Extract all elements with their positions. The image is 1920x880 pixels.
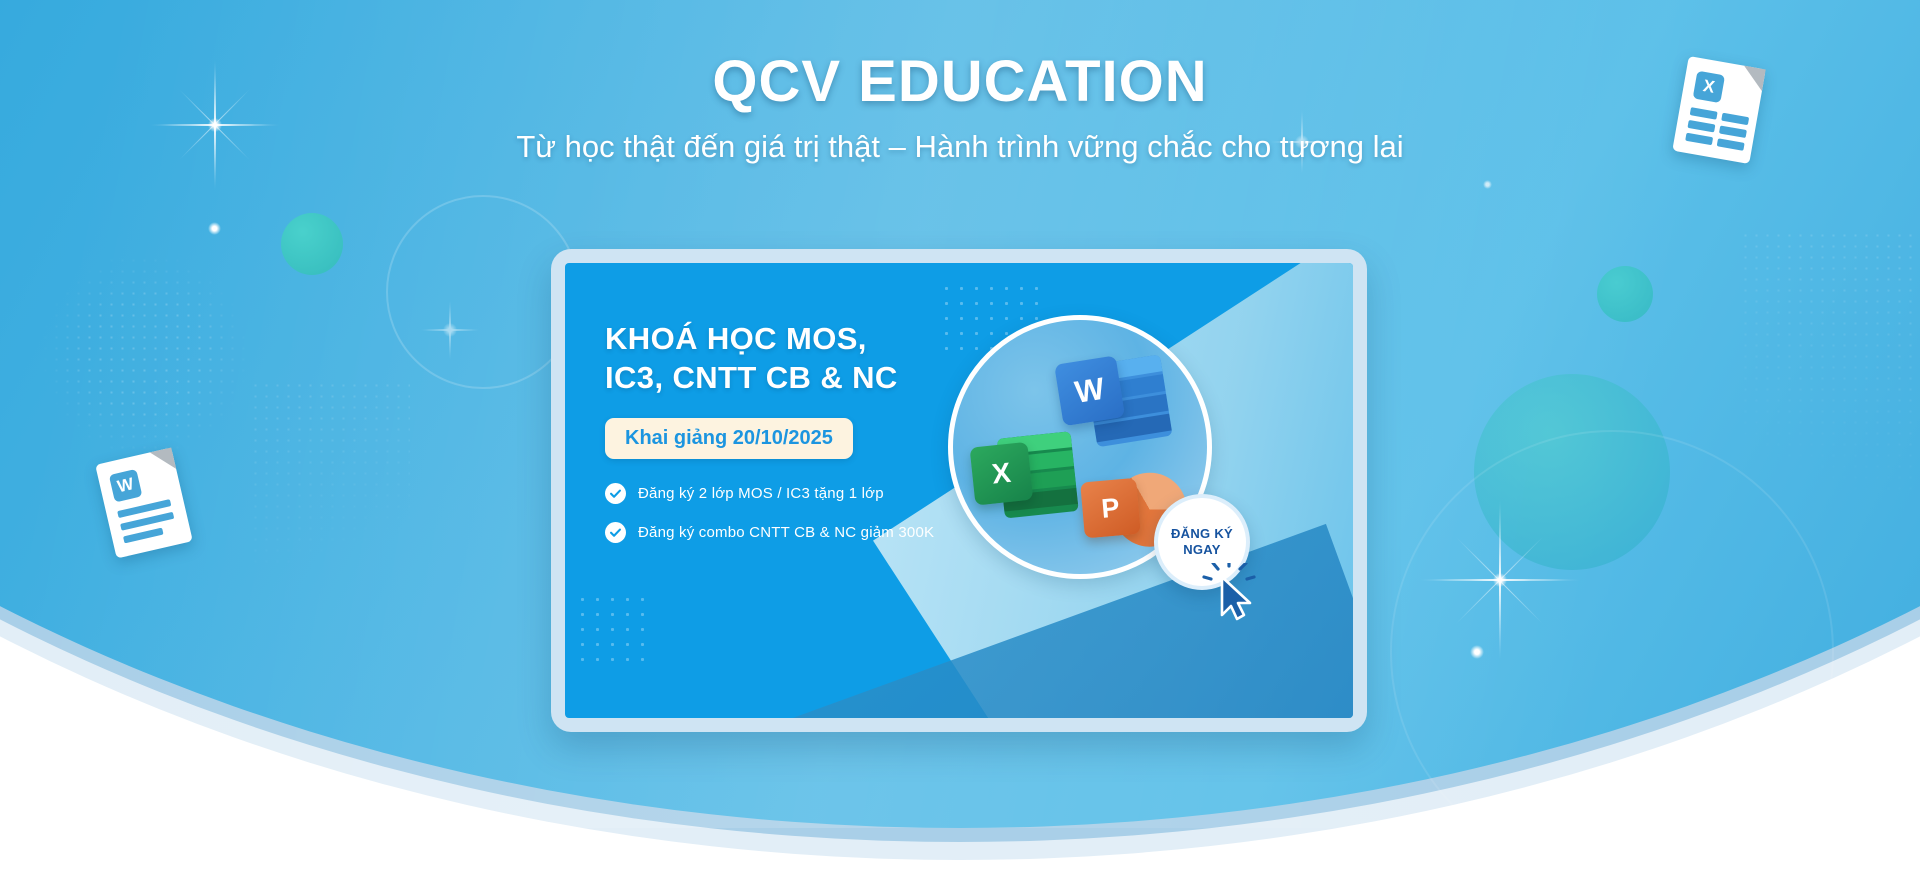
banner-stage: QCV EDUCATION Từ học thật đến giá trị th…: [0, 0, 1920, 880]
doc-cell: [1690, 107, 1718, 120]
promo-feature-list: Đăng ký 2 lớp MOS / IC3 tặng 1 lớp Đăng …: [605, 483, 995, 543]
page-title: QCV EDUCATION: [0, 48, 1920, 115]
excel-document-icon: X: [1672, 56, 1765, 164]
light-dot-decoration: [1483, 180, 1492, 189]
doc-cell: [1719, 125, 1747, 138]
light-dot-decoration: [208, 222, 221, 235]
doc-cell: [1721, 113, 1749, 126]
start-date-badge: Khai giảng 20/10/2025: [605, 418, 853, 459]
promo-card[interactable]: KHOÁ HỌC MOS, IC3, CNTT CB & NC Khai giả…: [565, 263, 1353, 718]
banner-header: QCV EDUCATION Từ học thật đến giá trị th…: [0, 48, 1920, 165]
list-item: Đăng ký combo CNTT CB & NC giảm 300K: [605, 522, 995, 543]
page-fold-corner: [1740, 66, 1765, 91]
excel-letter-tile: X: [970, 442, 1034, 506]
feature-label: Đăng ký combo CNTT CB & NC giảm 300K: [638, 524, 934, 541]
check-circle-icon: [605, 522, 626, 543]
excel-letter-badge: X: [1693, 71, 1725, 103]
word-letter-badge: W: [109, 469, 143, 503]
doc-cell: [1687, 120, 1715, 133]
document-paper: X: [1672, 56, 1765, 164]
cursor-pointer-icon: [1202, 563, 1258, 623]
banner-background: QCV EDUCATION Từ học thật đến giá trị th…: [0, 0, 1920, 880]
course-title: KHOÁ HỌC MOS, IC3, CNTT CB & NC: [605, 319, 995, 397]
promo-card-frame[interactable]: KHOÁ HỌC MOS, IC3, CNTT CB & NC Khai giả…: [551, 249, 1367, 732]
course-title-line-1: KHOÁ HỌC MOS,: [605, 321, 867, 356]
course-title-line-2: IC3, CNTT CB & NC: [605, 360, 898, 395]
powerpoint-letter-tile: P: [1080, 478, 1141, 539]
doc-cell: [1717, 138, 1745, 151]
light-dot-decoration: [1470, 645, 1484, 659]
word-letter-tile: W: [1054, 355, 1125, 426]
doc-cell: [1685, 133, 1713, 146]
feature-label: Đăng ký 2 lớp MOS / IC3 tặng 1 lớp: [638, 485, 884, 502]
doc-text-line: [123, 528, 164, 544]
check-circle-icon: [605, 483, 626, 504]
cta-label-line-2: NGAY: [1183, 542, 1221, 558]
page-subtitle: Từ học thật đến giá trị thật – Hành trìn…: [0, 129, 1920, 165]
dot-grid-decoration: [575, 592, 645, 662]
cta-label-line-1: ĐĂNG KÝ: [1171, 526, 1233, 542]
promo-card-content: KHOÁ HỌC MOS, IC3, CNTT CB & NC Khai giả…: [605, 319, 995, 561]
page-fold-corner: [150, 447, 176, 473]
list-item: Đăng ký 2 lớp MOS / IC3 tặng 1 lớp: [605, 483, 995, 504]
microsoft-excel-icon: X: [968, 427, 1085, 530]
